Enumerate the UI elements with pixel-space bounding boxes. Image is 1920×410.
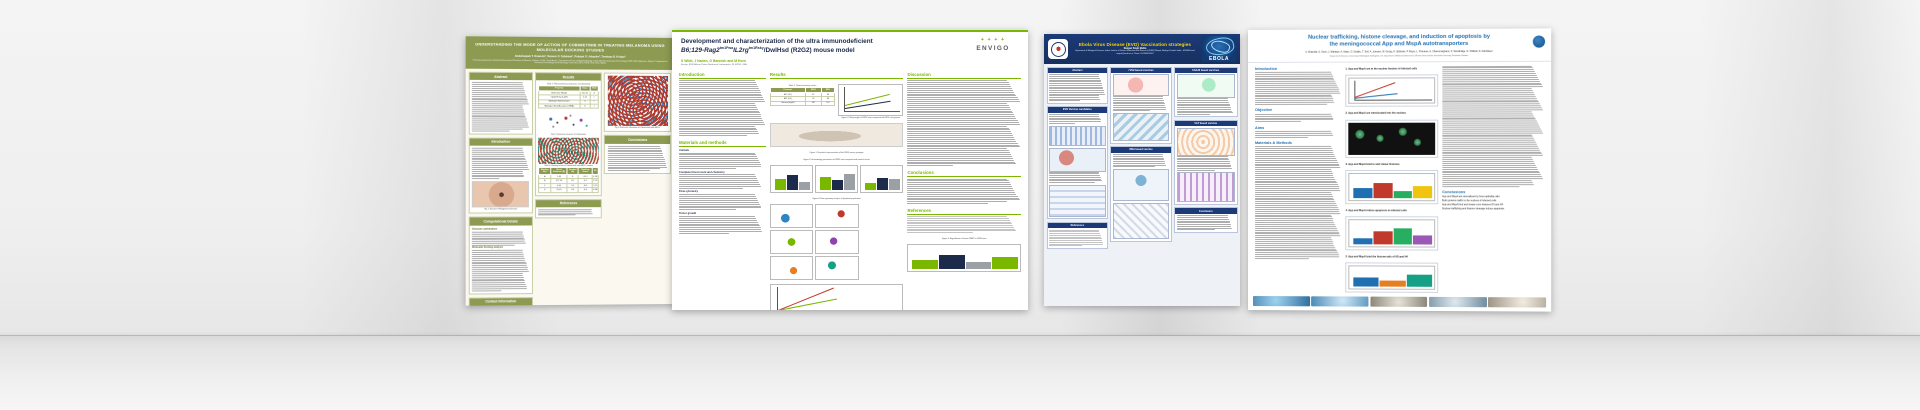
poster3-figure-rvsv (1113, 74, 1170, 96)
poster1-affiliations: *Chemistry Department, King Fahd Univers… (472, 59, 668, 66)
poster2-title-line2-tail: /DwlHsd (R2G2) mouse model (764, 47, 855, 54)
poster1-abstract-text (472, 82, 529, 131)
poster2-references-heading: References (907, 208, 1021, 215)
poster3-diagram-mechanism (1049, 148, 1106, 172)
poster4-column-2: 1. App and MspA are in the nuclear fract… (1345, 66, 1438, 294)
university-logo-icon (1533, 35, 1545, 47)
poster1-figure-panel: Fig 3: Molecular interaction of Cobimeti… (604, 73, 671, 133)
poster2-section-introduction: Introduction (679, 72, 766, 136)
poster4-image-strip (1248, 296, 1551, 311)
poster1-docking-text (472, 250, 529, 291)
poster1-table-docking: Binding Site Bond Distance (Å) Docked (Å… (538, 167, 599, 192)
poster2-title-gene2: IL2rg (733, 47, 749, 54)
poster1-column-1: Abstract Introduction Fig. 1: A patch of… (469, 72, 533, 306)
poster3-figure-vlp-2 (1177, 172, 1235, 202)
poster2-title-sup1: tm1Fwa (720, 46, 733, 50)
poster4-section-introduction: Introduction (1255, 66, 1341, 105)
poster3-figure-chad3 (1177, 74, 1235, 98)
poster2-subhead-cbc: Complete blood count and chemistry (679, 171, 766, 174)
poster2-flow-plot-6 (815, 256, 858, 280)
poster4-figure5-panel (1345, 263, 1438, 294)
poster3-section-candidates: EVD Vaccine candidates (1047, 106, 1109, 219)
poster4-introduction-heading: Introduction (1255, 66, 1341, 70)
poster3-column-2: rVSV-based vaccines DNA based vaccine (1110, 67, 1172, 304)
poster2-results-row-1: Table 1: Clinical chemistry values Param… (770, 84, 904, 119)
poster2-figure6-caption: Figure 6: Engraftment of human PBMC in R… (907, 238, 1021, 240)
poster2-figure2-caption: Figure 2: Body weight of R2G2 mice compa… (838, 117, 903, 119)
poster1-figure2-caption: Fig 2: Optimized structure of Cobimetini… (538, 134, 599, 136)
poster1-section-computational-details: Computational Details Structure optimiza… (469, 217, 533, 295)
poster2-cbc-text (679, 174, 766, 188)
poster4-section-methods: Materials & Methods (1255, 141, 1341, 259)
poster4-title: Nuclear trafficking, histone cleavage, a… (1256, 33, 1543, 49)
poster4-column-1: Introduction Objective Aims Materials & … (1255, 66, 1341, 293)
poster3-title: Ebola Virus Disease (EVD) Vaccination st… (1071, 42, 1199, 47)
poster4-aims-heading: Aims (1255, 126, 1341, 130)
poster1-structure-text (472, 231, 529, 245)
poster2-methods-heading: Materials and methods (679, 140, 766, 147)
poster2-section-references: References (907, 208, 1021, 233)
poster4-figure3-panel (1345, 170, 1438, 204)
table-row: Glucose (mg/dL)162155 (770, 101, 834, 105)
poster2-plot-engraftment (907, 244, 1021, 272)
poster2-conclusions-text (907, 179, 1021, 204)
strip-image-5 (1488, 298, 1546, 308)
poster2-header: Development and characterization of the … (672, 30, 1028, 70)
poster1-title: UNDERSTANDING THE MODE OF ACTION OF COBI… (472, 41, 668, 53)
poster3-column-1: Abstract EVD Vaccine candidates (1047, 67, 1109, 304)
poster4-figure3-caption: 3. App and MspA bind to and cleave histo… (1345, 163, 1438, 166)
poster3-section-abstract: Abstract (1047, 67, 1109, 104)
poster3-conclusion-text (1177, 215, 1235, 230)
poster4-conclusions-heading: Conclusions (1442, 190, 1544, 194)
poster-r2g2-mouse[interactable]: Development and characterization of the … (672, 30, 1028, 310)
poster3-section-references: References (1047, 222, 1109, 249)
poster3-section-conclusion: Conclusion (1174, 207, 1238, 232)
poster4-title-line1: Nuclear trafficking, histone cleavage, a… (1308, 34, 1490, 41)
poster2-introduction-text (679, 80, 766, 136)
poster2-subhead-animals: Animals (679, 149, 766, 152)
poster2-discussion-heading: Discussion (907, 72, 1021, 79)
poster1-section-results: Results Table 1: Physicochemical propert… (535, 72, 602, 196)
poster3-section-vlp: VLP based vaccine (1174, 120, 1238, 205)
poster2-tumor-text (679, 216, 766, 234)
poster2-figure4-caption: Figure 4: Flow cytometry analysis of lym… (770, 198, 904, 200)
poster3-section-chad3: ChAd3 based vaccines (1174, 67, 1238, 118)
poster2-flow-text (679, 194, 766, 210)
poster3-affiliation: Department of Biological Sciences, India… (1071, 50, 1199, 56)
poster1-section-abstract: Abstract (469, 72, 533, 135)
envigo-plus-mark: + + + + (967, 38, 1019, 44)
poster2-authors: S Wildt, J Naden, G Bannish and M Horn (681, 59, 967, 63)
strip-image-4 (1429, 297, 1487, 307)
poster1-section-introduction: Introduction Fig. 1: A patch of Malignan… (469, 137, 533, 214)
poster3-vlp-text (1177, 156, 1235, 171)
poster2-flow-panels (770, 204, 904, 280)
poster2-flow-plot-1 (770, 204, 813, 228)
poster4-confocal-images (1348, 122, 1435, 154)
poster4-conclusions-list: App and MspA are internalised by host ep… (1442, 196, 1544, 212)
poster2-plot-tumor-growth (770, 284, 904, 310)
poster1-section-conclusions: Conclusions (604, 135, 671, 174)
poster2-column-1: Introduction Materials and methods Anima… (679, 72, 766, 310)
poster4-figure5-caption: 5. App and MspA bind the histone tails o… (1345, 256, 1438, 259)
poster2-figure-mouse-photo (770, 123, 904, 147)
poster2-column-2: Results Table 1: Clinical chemistry valu… (770, 72, 904, 310)
poster2-section-discussion: Discussion (907, 72, 1021, 166)
poster4-column-3: Conclusions App and MspA are internalise… (1442, 65, 1544, 293)
poster4-aims-text (1255, 131, 1341, 138)
floor-surface (0, 336, 1920, 410)
poster4-section-aims: Aims (1255, 126, 1341, 138)
poster3-candidates-text2 (1049, 172, 1106, 183)
poster-exhibition-scene: UNDERSTANDING THE MODE OF ACTION OF COBI… (0, 0, 1920, 410)
iiser-emblem-icon (1048, 39, 1068, 59)
poster2-results-heading: Results (770, 72, 904, 79)
poster3-diagram-candidates (1049, 126, 1106, 146)
poster2-figure3-caption: Figure 3: Haematology parameters of R2G2… (770, 159, 904, 161)
poster1-introduction-text (472, 148, 529, 179)
poster2-column-3: Discussion Conclusions References Figure… (907, 72, 1021, 310)
poster1-column-2: Results Table 1: Physicochemical propert… (535, 72, 602, 306)
poster4-objective-heading: Objective (1255, 108, 1341, 112)
poster1-table-physicochemical: Property Value RO5 Molecular Weight531.3… (538, 86, 599, 110)
poster2-flow-plot-3 (770, 230, 813, 254)
poster4-objective-text (1255, 114, 1341, 123)
poster4-header: Nuclear trafficking, histone cleavage, a… (1248, 28, 1551, 62)
poster4-plot-apoptosis (1348, 219, 1435, 247)
poster2-plot-wbc (770, 165, 813, 193)
envigo-wordmark: ENVIGO (967, 45, 1019, 52)
poster3-abstract-text (1049, 74, 1106, 101)
poster4-plot-fractionation (1348, 78, 1435, 104)
poster2-plot-bodyweight (838, 84, 903, 116)
poster3-figure-dna (1113, 169, 1170, 201)
poster2-section-conclusions: Conclusions (907, 170, 1021, 204)
poster2-title-line1: Development and characterization of the … (681, 38, 873, 45)
poster2-flow-plot-4 (815, 230, 858, 254)
poster4-plot-histone-tails (1348, 266, 1435, 290)
poster4-section-objective: Objective (1255, 108, 1341, 122)
poster3-section-dna: DNA based vaccine (1110, 146, 1172, 241)
poster3-section-rvsv: rVSV-based vaccines (1110, 67, 1172, 144)
strip-image-1 (1253, 296, 1310, 306)
poster3-figure-vlp (1177, 128, 1235, 156)
poster3-candidates-text (1049, 114, 1106, 123)
poster1-column-3: Fig 3: Molecular interaction of Cobimeti… (604, 73, 671, 306)
envigo-logo: + + + + ENVIGO (967, 38, 1019, 52)
table-row: Hydrogen Bond Acceptors (HBA)6✓ (539, 104, 599, 109)
poster2-title-gene1: B6;129-Rag2 (681, 47, 720, 54)
poster2-discussion-text (907, 80, 1021, 166)
poster1-figure1-caption: Fig. 1: A patch of Malignant melanoma (472, 208, 529, 210)
poster4-methods-text (1255, 146, 1341, 259)
poster2-section-methods: Materials and methods Animals Complete b… (679, 140, 766, 234)
poster1-figure-protein-complex (538, 138, 599, 164)
poster2-address: Envigo, 8520 Allison Pointe Boulevard, I… (681, 64, 967, 66)
poster4-section-conclusions: Conclusions App and MspA are internalise… (1442, 190, 1544, 211)
strip-image-3 (1370, 297, 1427, 307)
ebola-logo-icon: EBOLA (1202, 36, 1236, 62)
poster2-haematology-panels (770, 165, 904, 193)
wall-shading-right (1700, 0, 1920, 336)
poster1-authors: Abdulmujeeb T. Onawole*, Kazeem O. Sulai… (472, 54, 668, 59)
poster3-header: Ebola Virus Disease (EVD) Vaccination st… (1044, 34, 1240, 64)
poster-cobimetinib[interactable]: UNDERSTANDING THE MODE OF ACTION OF COBI… (466, 36, 674, 305)
poster3-chad3-text (1177, 98, 1235, 114)
poster2-title: Development and characterization of the … (681, 38, 967, 56)
table-row: D29.418.4-6.40.88 (539, 188, 599, 192)
poster3-references-text (1049, 230, 1106, 246)
poster4-title-line2: the meningococcal App and MspA autotrans… (1330, 41, 1469, 48)
poster4-results-text (1442, 65, 1544, 186)
poster2-conclusions-heading: Conclusions (907, 170, 1021, 177)
poster4-figure4-panel (1345, 216, 1438, 250)
poster2-introduction-heading: Introduction (679, 72, 766, 79)
poster2-subhead-flow: Flow cytometry (679, 190, 766, 193)
poster2-plot-rbc (815, 165, 858, 193)
poster1-figure-cobimetinib-structure (538, 111, 599, 133)
poster3-figure-dna-2 (1113, 203, 1170, 239)
poster2-title-sup2: tm1Rsky (749, 46, 764, 50)
poster2-flow-plot-5 (770, 256, 813, 280)
poster1-conclusions-text (608, 146, 668, 172)
poster1-introduction-heading: Introduction (470, 138, 532, 145)
poster4-affiliations: School of Life Sciences, University of N… (1256, 55, 1543, 59)
poster1-references-text (538, 209, 599, 215)
poster1-section-contact: Contact Information (469, 297, 533, 306)
poster-meningococcal-app-mspa[interactable]: Nuclear trafficking, histone cleavage, a… (1248, 28, 1551, 311)
poster3-diagram-vector (1049, 185, 1106, 217)
poster4-figure2-caption: 2. App and MspA are translocated into th… (1345, 112, 1438, 115)
list-item: Nuclear trafficking and histone cleavage… (1442, 207, 1544, 211)
poster2-figure1-caption: Figure 1: Graphical representation of th… (770, 152, 904, 154)
poster4-figure1-caption: 1. App and MspA are in the nuclear fract… (1345, 67, 1438, 70)
poster1-figure-docked-complex (608, 76, 668, 126)
poster3-figure-rvsv-2 (1113, 113, 1170, 141)
poster1-figure3-caption: Fig 3: Molecular interaction of Cobimeti… (608, 127, 668, 129)
poster4-plot-histone-cleavage (1348, 173, 1435, 201)
poster2-flow-plot-2 (815, 204, 858, 228)
poster3-column-3: ChAd3 based vaccines VLP based vaccine (1174, 67, 1238, 304)
poster2-subhead-tumor: Tumor growth (679, 212, 766, 215)
poster4-figure4-caption: 4. App and MspA induce apoptosis in infe… (1345, 209, 1438, 212)
poster2-table-chemistry: Parameter R2G2 NSG ALT (U/L)4238 AST (U/… (770, 87, 835, 106)
poster2-animals-text (679, 153, 766, 169)
poster1-header: UNDERSTANDING THE MODE OF ACTION OF COBI… (466, 36, 674, 70)
poster4-introduction-text (1255, 72, 1341, 105)
poster3-dna-text (1113, 154, 1170, 167)
strip-image-2 (1311, 297, 1368, 307)
poster4-figure2-panel (1345, 119, 1438, 157)
poster4-methods-heading: Materials & Methods (1255, 141, 1341, 145)
poster3-rvsv-text (1113, 96, 1170, 111)
poster1-figure-melanoma (472, 181, 529, 207)
poster1-conclusions-heading: Conclusions (605, 136, 670, 143)
poster2-plot-platelets (860, 165, 903, 193)
poster2-references-text (907, 216, 1021, 232)
poster-ebola-vaccination[interactable]: Ebola Virus Disease (EVD) Vaccination st… (1044, 34, 1240, 306)
poster1-section-references: References (535, 199, 602, 219)
poster4-figure1-panel (1345, 75, 1438, 107)
